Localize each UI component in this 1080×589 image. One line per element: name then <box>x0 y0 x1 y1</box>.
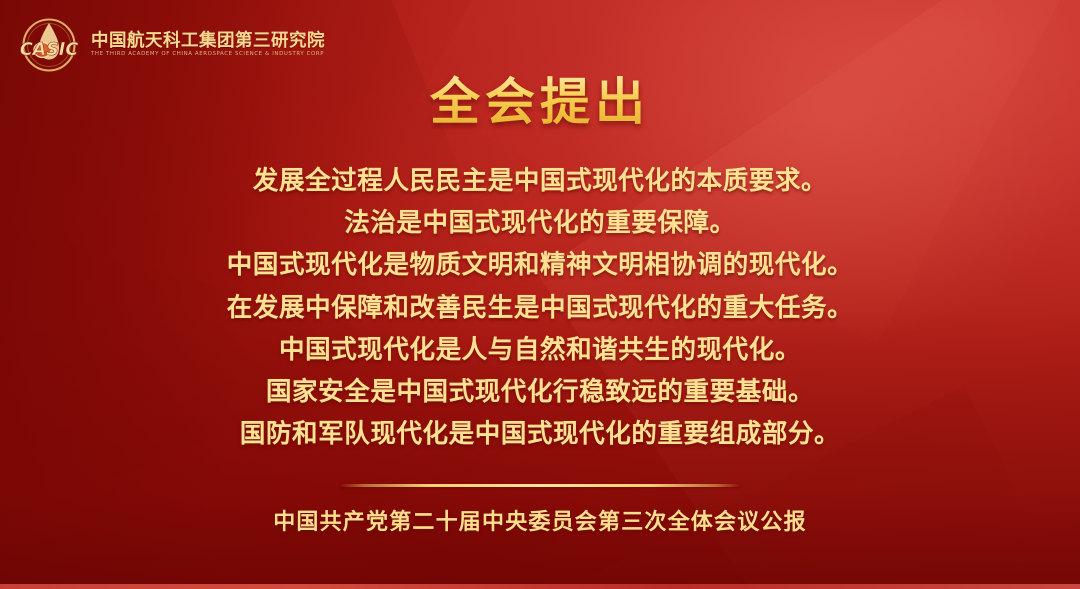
org-name-en: THE THIRD ACADEMY OF CHINA AEROSPACE SCI… <box>91 52 325 58</box>
poster-source: 中国共产党第二十届中央委员会第三次全体会议公报 <box>0 504 1080 536</box>
poster-source-text: 中国共产党第二十届中央委员会第三次全体会议公报 <box>273 510 807 535</box>
bottom-accent-strip <box>0 584 1080 589</box>
poster-line: 在发展中保障和改善民生是中国式现代化的重大任务。 <box>0 287 1080 329</box>
poster-title-text: 全会提出 <box>430 73 650 131</box>
org-name-cn: 中国航天科工集团第三研究院 <box>91 32 325 50</box>
poster-line: 中国式现代化是人与自然和谐共生的现代化。 <box>0 329 1080 371</box>
poster-line: 发展全过程人民民主是中国式现代化的本质要求。 <box>0 160 1080 202</box>
brand-header: CASIC 中国航天科工集团第三研究院 THE THIRD ACADEMY OF… <box>18 14 325 76</box>
poster-line: 法治是中国式现代化的重要保障。 <box>0 202 1080 244</box>
poster-body: 发展全过程人民民主是中国式现代化的本质要求。 法治是中国式现代化的重要保障。 中… <box>0 160 1080 455</box>
poster-line: 国防和军队现代化是中国式现代化的重要组成部分。 <box>0 413 1080 455</box>
poster-line: 中国式现代化是物质文明和精神文明相协调的现代化。 <box>0 244 1080 286</box>
poster-canvas: CASIC 中国航天科工集团第三研究院 THE THIRD ACADEMY OF… <box>0 0 1080 589</box>
casic-emblem-icon: CASIC <box>18 14 80 76</box>
brand-text: 中国航天科工集团第三研究院 THE THIRD ACADEMY OF CHINA… <box>91 32 325 58</box>
footer-divider <box>340 484 740 487</box>
svg-text:CASIC: CASIC <box>20 40 79 60</box>
poster-line: 国家安全是中国式现代化行稳致远的重要基础。 <box>0 371 1080 413</box>
